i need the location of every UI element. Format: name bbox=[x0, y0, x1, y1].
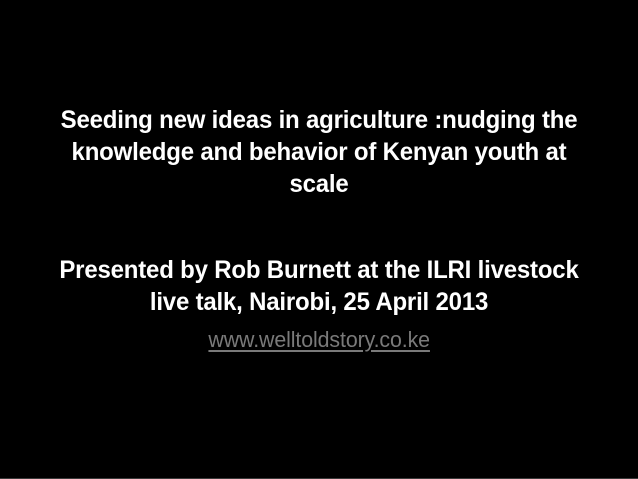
title-line-3: scale bbox=[51, 168, 587, 200]
title-slide: Seeding new ideas in agriculture :nudgin… bbox=[0, 0, 638, 479]
title-line-1: Seeding new ideas in agriculture :nudgin… bbox=[51, 104, 587, 136]
website-link[interactable]: www.welltoldstory.co.ke bbox=[208, 327, 430, 353]
website-link-row: www.welltoldstory.co.ke bbox=[40, 327, 598, 356]
slide-subtitle: Presented by Rob Burnett at the ILRI liv… bbox=[51, 254, 587, 318]
slide-title: Seeding new ideas in agriculture :nudgin… bbox=[51, 104, 587, 200]
title-presenter-spacer bbox=[40, 200, 598, 232]
slide-content: Seeding new ideas in agriculture :nudgin… bbox=[40, 104, 598, 356]
presenter-line-2: live talk, Nairobi, 25 April 2013 bbox=[51, 286, 587, 318]
title-line-2: knowledge and behavior of Kenyan youth a… bbox=[51, 136, 587, 168]
presenter-line-1: Presented by Rob Burnett at the ILRI liv… bbox=[51, 254, 587, 286]
